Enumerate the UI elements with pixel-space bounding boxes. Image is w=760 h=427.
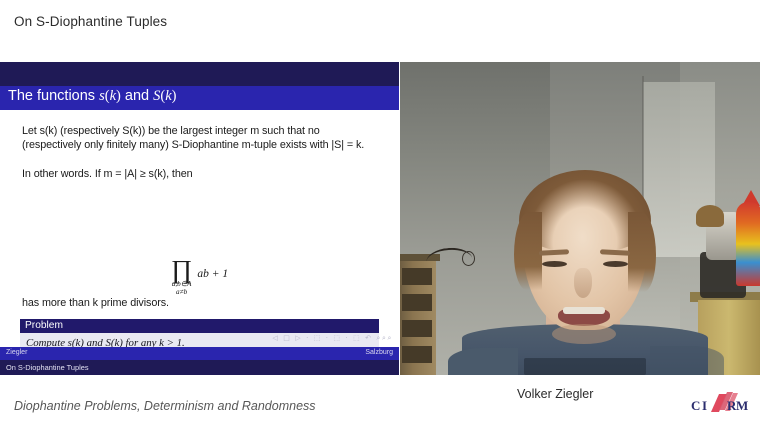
cirm-logo-letter-i: I (702, 398, 707, 413)
bookshelf-slot (402, 268, 432, 285)
slide-paragraph-primedivisors: has more than k prime divisors. (22, 296, 378, 310)
speaker-eye-left (542, 261, 567, 267)
slide-title: The functions s(k) and S(k) (8, 88, 176, 105)
slide-footer-bar: Ziegler Salzburg (0, 347, 399, 360)
cirm-logo-letter-c: C (691, 398, 700, 413)
speaker-teeth (563, 307, 605, 314)
slide-footer-subtitle-bar: On S-Diophantine Tuples (0, 360, 399, 375)
speaker-chin (552, 324, 616, 344)
slide-paragraph-inotherwords: In other words. If m = |A| ≥ s(k), then (22, 167, 378, 181)
tshirt-print (524, 358, 646, 375)
presentation-slide[interactable]: The functions s(k) and S(k) Let s(k) (re… (0, 62, 399, 375)
background-wall-panel (643, 82, 715, 257)
slide-body: Let s(k) (respectively S(k)) be the larg… (0, 112, 399, 347)
slide-footer-institute: Salzburg (365, 349, 393, 356)
slide-top-strip (0, 62, 399, 86)
bottom-bar: Diophantine Problems, Determinism and Ra… (0, 375, 760, 427)
speaker-shoulder-left (448, 348, 518, 375)
bookshelf-slot (402, 346, 432, 363)
speaker-nose (574, 268, 592, 298)
bookshelf-slot (402, 320, 432, 337)
screenshot-root: On S-Diophantine Tuples The functions s(… (0, 0, 760, 427)
talk-title: Diophantine Problems, Determinism and Ra… (14, 399, 316, 413)
webcam-video-pane[interactable] (400, 62, 760, 375)
product-formula: ∏ a,b∈A a≠b ab + 1 (0, 258, 399, 294)
speaker-hair-left (514, 212, 542, 290)
colorful-toy (736, 202, 760, 286)
product-operator-group: ∏ a,b∈A a≠b (171, 260, 192, 296)
beamer-navigation-icons[interactable]: ◁ □ ▷ · ⬚ · ⬚ · ⬚ ↶ ⌕⌕⌕ (272, 334, 393, 343)
cirm-logo: C I R M (689, 390, 751, 418)
bookshelf-slot (402, 294, 432, 311)
product-operator-icon: ∏ (171, 260, 192, 280)
slide-footer-author: Ziegler (6, 349, 27, 356)
cirm-logo-letter-m: M (736, 398, 748, 413)
slide-title-paren-4: ) (172, 88, 177, 104)
slide-footer-subtitle: On S-Diophantine Tuples (6, 363, 89, 372)
slide-title-lead: The functions (8, 88, 99, 104)
top-header: On S-Diophantine Tuples (0, 0, 760, 62)
slide-paragraph-definition: Let s(k) (respectively S(k)) be the larg… (22, 124, 378, 152)
product-subscript-line1: a,b∈A (171, 280, 192, 288)
speaker-eye-right (603, 261, 628, 267)
slide-title-mid: and (121, 88, 153, 104)
page-title: On S-Diophantine Tuples (14, 14, 167, 29)
problem-heading: Problem (20, 319, 379, 333)
hanging-loop (462, 251, 475, 266)
speaker-shoulder-right (650, 346, 724, 375)
product-body: ab + 1 (197, 268, 228, 280)
bronze-object (696, 205, 724, 227)
speaker-name: Volker Ziegler (517, 387, 593, 401)
